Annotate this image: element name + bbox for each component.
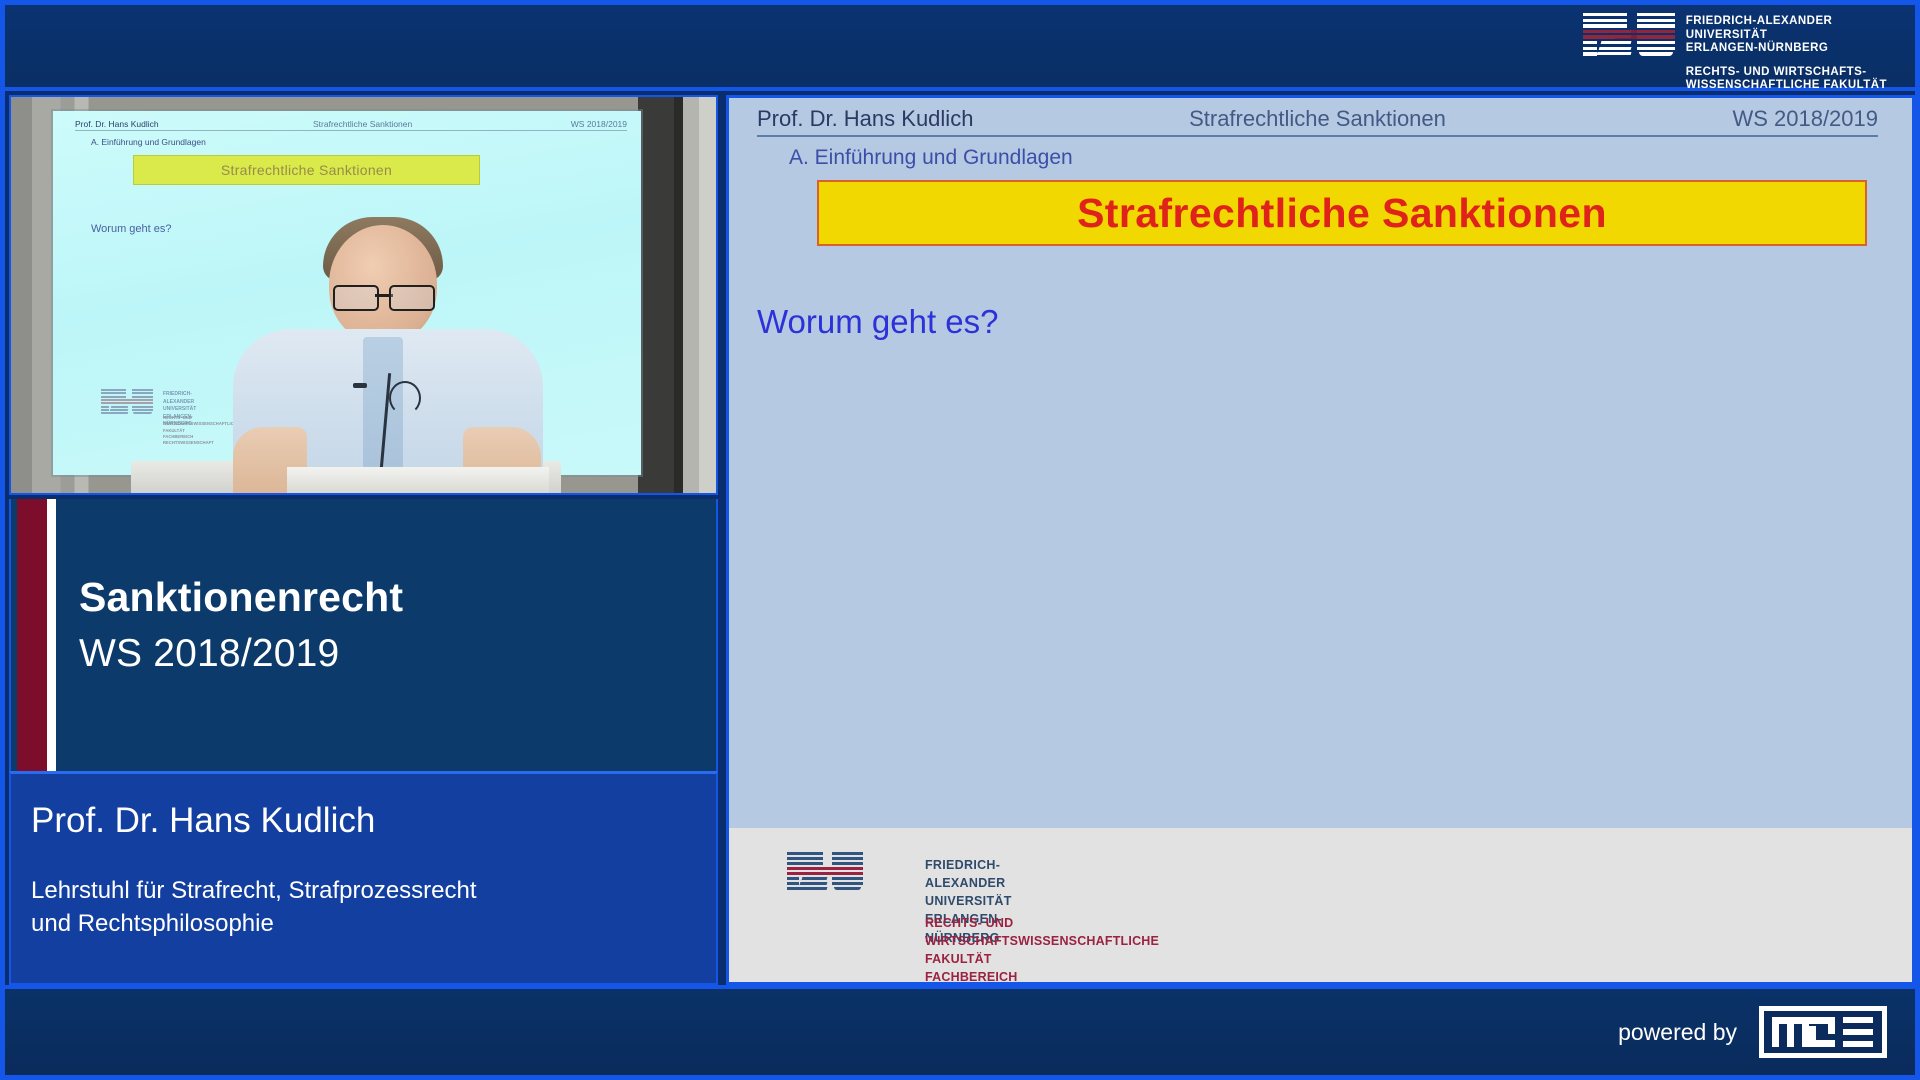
presentation-slide[interactable]: Prof. Dr. Hans Kudlich Strafrechtliche S… [726, 95, 1915, 985]
slide-header-title: Strafrechtliche Sanktionen [757, 106, 1878, 132]
projected-header-right: WS 2018/2019 [571, 119, 627, 129]
projected-header-left: Prof. Dr. Hans Kudlich [75, 119, 159, 129]
accent-bar-maroon [17, 499, 47, 771]
slide-footer-faculty-2: FACHBEREICH RECHTSWISSENSCHAFT [925, 968, 1159, 985]
lecturer-glasses-icon [333, 285, 435, 307]
accent-bar-white [47, 499, 56, 771]
header-org-line-3: ERLANGEN-NÜRNBERG [1686, 42, 1887, 56]
fau-logo-slide-footer: FRIEDRICH-ALEXANDER UNIVERSITÄT ERLANGEN… [787, 852, 863, 892]
projected-section-label: A. Einführung und Grundlagen [91, 137, 206, 147]
projected-fau-logo: FRIEDRICH-ALEXANDER UNIVERSITÄT ERLANGEN… [101, 389, 153, 415]
lecturer-chair-line-2: und Rechtsphilosophie [31, 907, 694, 940]
header-org-line-2: UNIVERSITÄT [1686, 29, 1887, 43]
slide-header-divider [757, 135, 1878, 137]
left-column: Prof. Dr. Hans Kudlich Strafrechtliche S… [9, 95, 718, 985]
projected-slide-header: Prof. Dr. Hans Kudlich Strafrechtliche S… [75, 119, 627, 133]
lecturer-name: Prof. Dr. Hans Kudlich [31, 802, 375, 841]
lecturer-head [329, 225, 437, 343]
lecturer-chair: Lehrstuhl für Strafrecht, Strafprozessre… [31, 874, 694, 940]
header-faculty-line-2: WISSENSCHAFTLICHE FAKULTÄT [1686, 79, 1887, 93]
rrze-logo-icon [1759, 1006, 1887, 1058]
microphone-cord-loop [389, 381, 421, 415]
course-semester: WS 2018/2019 [79, 632, 403, 676]
slide-footer-faculty-1: RECHTS- UND WIRTSCHAFTSWISSENSCHAFTLICHE… [925, 914, 1159, 968]
course-title-card: Sanktionenrecht WS 2018/2019 [9, 499, 718, 771]
course-title: Sanktionenrecht [79, 575, 403, 621]
lapel-microphone-icon [353, 383, 367, 388]
bottom-footer-bar: powered by [5, 985, 1915, 1075]
slide-section-label: A. Einführung und Grundlagen [789, 146, 1073, 170]
header-org-line-1: FRIEDRICH-ALEXANDER [1686, 15, 1887, 29]
lecture-video[interactable]: Prof. Dr. Hans Kudlich Strafrechtliche S… [9, 95, 718, 495]
powered-by-label: powered by [1618, 1019, 1737, 1046]
slide-footer: FRIEDRICH-ALEXANDER UNIVERSITÄT ERLANGEN… [729, 828, 1912, 982]
projected-logo-fac-2: FACHBEREICH RECHTSWISSENSCHAFT [163, 434, 240, 447]
projected-title-text: Strafrechtliche Sanktionen [221, 162, 392, 178]
projected-header-center: Strafrechtliche Sanktionen [313, 119, 412, 129]
fau-logo-header: FRIEDRICH-ALEXANDER UNIVERSITÄT ERLANGEN… [1583, 13, 1887, 93]
header-faculty-line-1: RECHTS- UND WIRTSCHAFTS- [1686, 66, 1887, 80]
slide-header: Prof. Dr. Hans Kudlich Strafrechtliche S… [757, 104, 1878, 138]
projected-title-box: Strafrechtliche Sanktionen [133, 155, 480, 185]
lecturer-info-card: Prof. Dr. Hans Kudlich Lehrstuhl für Str… [9, 771, 718, 985]
lectern [287, 467, 549, 493]
slide-header-semester: WS 2018/2019 [1732, 106, 1878, 132]
slide-question-text: Worum geht es? [757, 303, 999, 341]
slide-footer-org-2: UNIVERSITÄT [925, 892, 1012, 910]
projected-logo-fac-1: RECHTS- UND WIRTSCHAFTSWISSENSCHAFTLICHE… [163, 415, 240, 434]
player-stage: FRIEDRICH-ALEXANDER UNIVERSITÄT ERLANGEN… [0, 0, 1920, 1080]
top-header-bar: FRIEDRICH-ALEXANDER UNIVERSITÄT ERLANGEN… [5, 5, 1915, 91]
slide-title-text: Strafrechtliche Sanktionen [1077, 190, 1607, 237]
slide-footer-org-1: FRIEDRICH-ALEXANDER [925, 856, 1012, 892]
projected-question-text: Worum geht es? [91, 223, 172, 235]
lecture-hall-door [638, 97, 716, 493]
fau-mark-icon [1583, 13, 1675, 57]
lecturer-chair-line-1: Lehrstuhl für Strafrecht, Strafprozessre… [31, 874, 694, 907]
projected-logo-org-2: UNIVERSITÄT [163, 406, 196, 414]
slide-title-box: Strafrechtliche Sanktionen [817, 180, 1867, 246]
projected-logo-org-1: FRIEDRICH-ALEXANDER [163, 391, 196, 406]
